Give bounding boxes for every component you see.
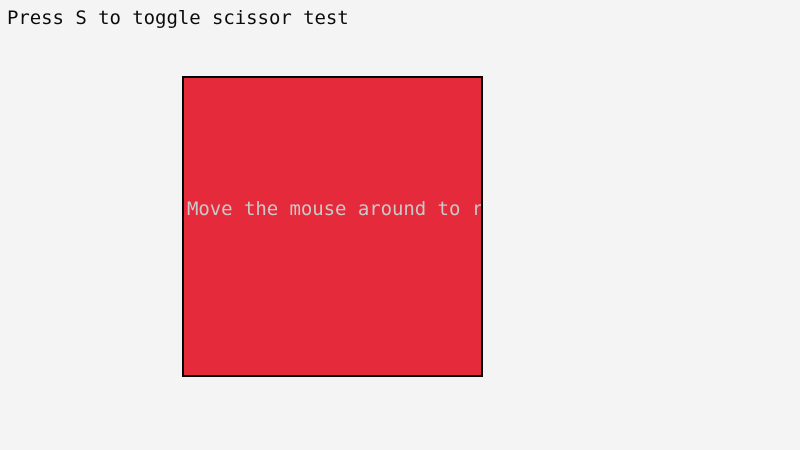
scissor-test-box[interactable]: Move the mouse around to r	[182, 76, 483, 377]
scissor-message-text: Move the mouse around to r	[187, 198, 481, 220]
instruction-text: Press S to toggle scissor test	[7, 7, 349, 29]
app-canvas: Press S to toggle scissor test Move the …	[0, 0, 800, 450]
scissor-clip-region: Move the mouse around to r	[184, 78, 481, 375]
